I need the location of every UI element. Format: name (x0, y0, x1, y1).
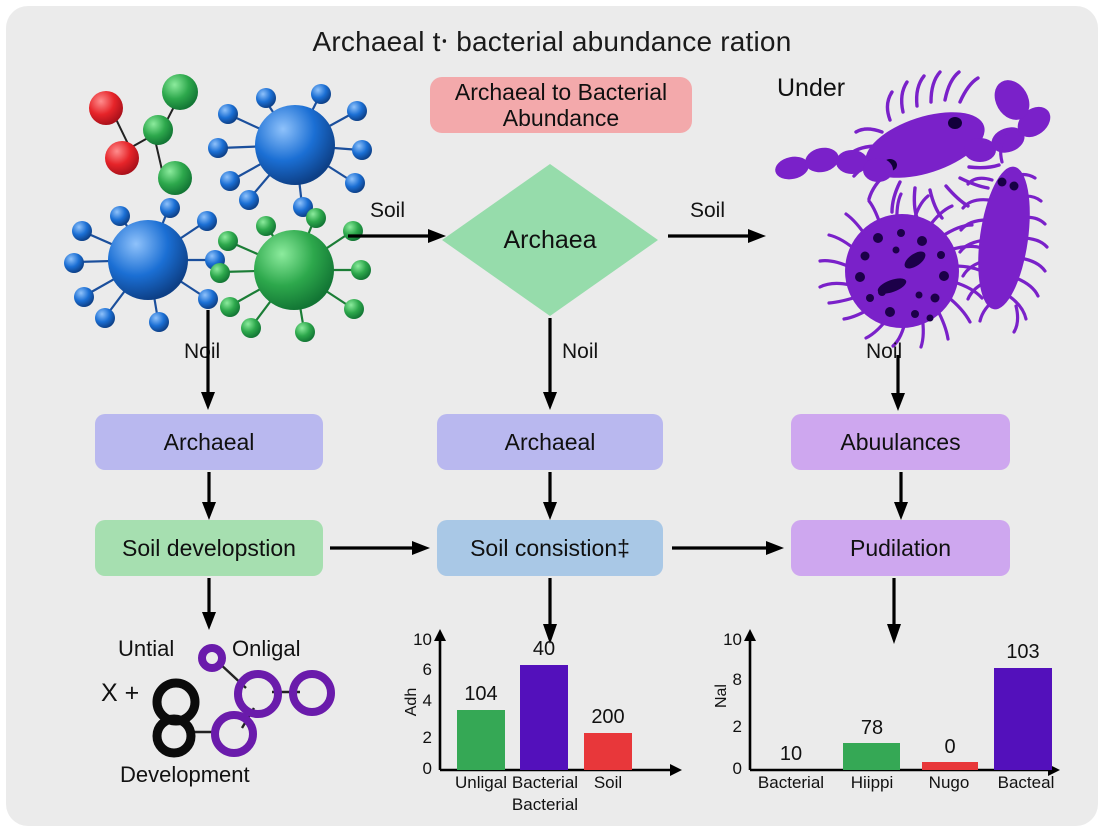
edge-label-noil-mid: Noil (562, 340, 598, 364)
right-chart-ytick-8: 8 (712, 670, 742, 690)
molecule-graph-figure-eight (157, 683, 195, 753)
right-chart: Nal 10 8 2 0 10 78 0 103 Bacterial Hiipp… (710, 625, 1070, 805)
node-soil-consistion-label: Soil consistion‡ (470, 535, 630, 561)
node-soil-development-label: Soil developstion (122, 535, 296, 561)
right-chart-category-2: Nugo (915, 773, 983, 793)
node-archaeal-mid-label: Archaeal (505, 429, 596, 455)
middle-chart: Adh 10 6 4 2 0 104 40 200 Unligal Bacter… (400, 625, 690, 825)
middle-chart-value-1: 40 (514, 638, 574, 661)
header-pill-archaeal-to-bacterial-abundance: Archaeal to Bacterial Abundance (430, 77, 692, 133)
right-chart-value-1: 78 (842, 717, 902, 740)
node-soil-consistion: Soil consistion‡ (437, 520, 663, 576)
arrow-left-to-diamond (348, 228, 446, 244)
diamond-label: Archaea (442, 164, 658, 316)
middle-chart-ytick-0: 0 (402, 759, 432, 779)
right-chart-value-0: 10 (761, 743, 821, 766)
middle-chart-ytick-6: 6 (402, 660, 432, 680)
node-archaeal-left: Archaeal (95, 414, 323, 470)
annotation-x-plus: X + (101, 679, 139, 708)
node-abuulances: Abuulances (791, 414, 1010, 470)
node-archaeal-left-label: Archaeal (164, 429, 255, 455)
bead-chain-right (964, 74, 1056, 162)
arrow-down-right-to-abuulances (890, 355, 906, 411)
microbe-illustrations (770, 60, 1100, 330)
middle-chart-category-1-sublabel: Bacterial (506, 795, 584, 815)
middle-chart-value-2: 200 (578, 706, 638, 729)
arrow-diamond-to-right (668, 228, 766, 244)
page-title: Archaeal t⸱ bacterial abundance ration (0, 22, 1104, 60)
decision-diamond-archaea: Archaea (442, 164, 658, 316)
right-chart-ytick-2: 2 (712, 717, 742, 737)
right-chart-category-3: Bacteal (988, 773, 1064, 793)
right-chart-bar-1 (843, 743, 900, 770)
middle-chart-ytick-10: 10 (402, 630, 432, 650)
right-chart-bar-3 (994, 668, 1052, 770)
middle-chart-ytick-2: 2 (402, 728, 432, 748)
middle-chart-ytick-4: 4 (402, 691, 432, 711)
right-chart-category-1: Hiippi (838, 773, 906, 793)
arrow-down-diamond-to-archaeal (542, 318, 558, 410)
edge-label-soil-left: Soil (370, 199, 405, 223)
right-chart-value-2: 0 (920, 736, 980, 759)
arrow-soil-development-to-molecule (201, 578, 217, 630)
molecule-graph-bottom-left (150, 640, 340, 760)
middle-chart-value-0: 104 (451, 683, 511, 706)
node-pudilation-label: Pudilation (850, 535, 951, 561)
right-chart-value-3: 103 (993, 641, 1053, 664)
middle-chart-bar-1 (520, 665, 568, 770)
arrow-abuulances-to-pudilation (893, 472, 909, 520)
right-chart-category-0: Bacterial (750, 773, 832, 793)
right-chart-ytick-0: 0 (712, 759, 742, 779)
node-soil-development: Soil developstion (95, 520, 323, 576)
edge-label-soil-right: Soil (690, 199, 725, 223)
middle-chart-bar-2 (584, 733, 632, 770)
header-pill-label: Archaeal to Bacterial Abundance (440, 79, 682, 132)
annotation-development: Development (120, 762, 250, 788)
node-archaeal-mid: Archaeal (437, 414, 663, 470)
right-chart-bar-2 (922, 762, 978, 770)
middle-chart-bar-0 (457, 710, 505, 770)
middle-chart-category-1: Bacterial (506, 773, 584, 793)
molecule-cluster-left (70, 70, 380, 330)
figure-canvas: Archaeal t⸱ bacterial abundance ration (0, 0, 1104, 832)
arrow-archaeal-left-to-soil-development (201, 472, 217, 520)
node-pudilation: Pudilation (791, 520, 1010, 576)
arrow-archaeal-mid-to-soil-consistion (542, 472, 558, 520)
middle-chart-category-2: Soil (582, 773, 634, 793)
arrow-soil-consistion-to-pudilation (672, 540, 784, 556)
arrow-down-left-to-archaeal (200, 310, 216, 410)
right-chart-ytick-10: 10 (712, 630, 742, 650)
arrow-soil-development-to-soil-consistion (330, 540, 430, 556)
molecule-graph-rings (202, 648, 331, 753)
node-abuulances-label: Abuulances (840, 429, 960, 455)
